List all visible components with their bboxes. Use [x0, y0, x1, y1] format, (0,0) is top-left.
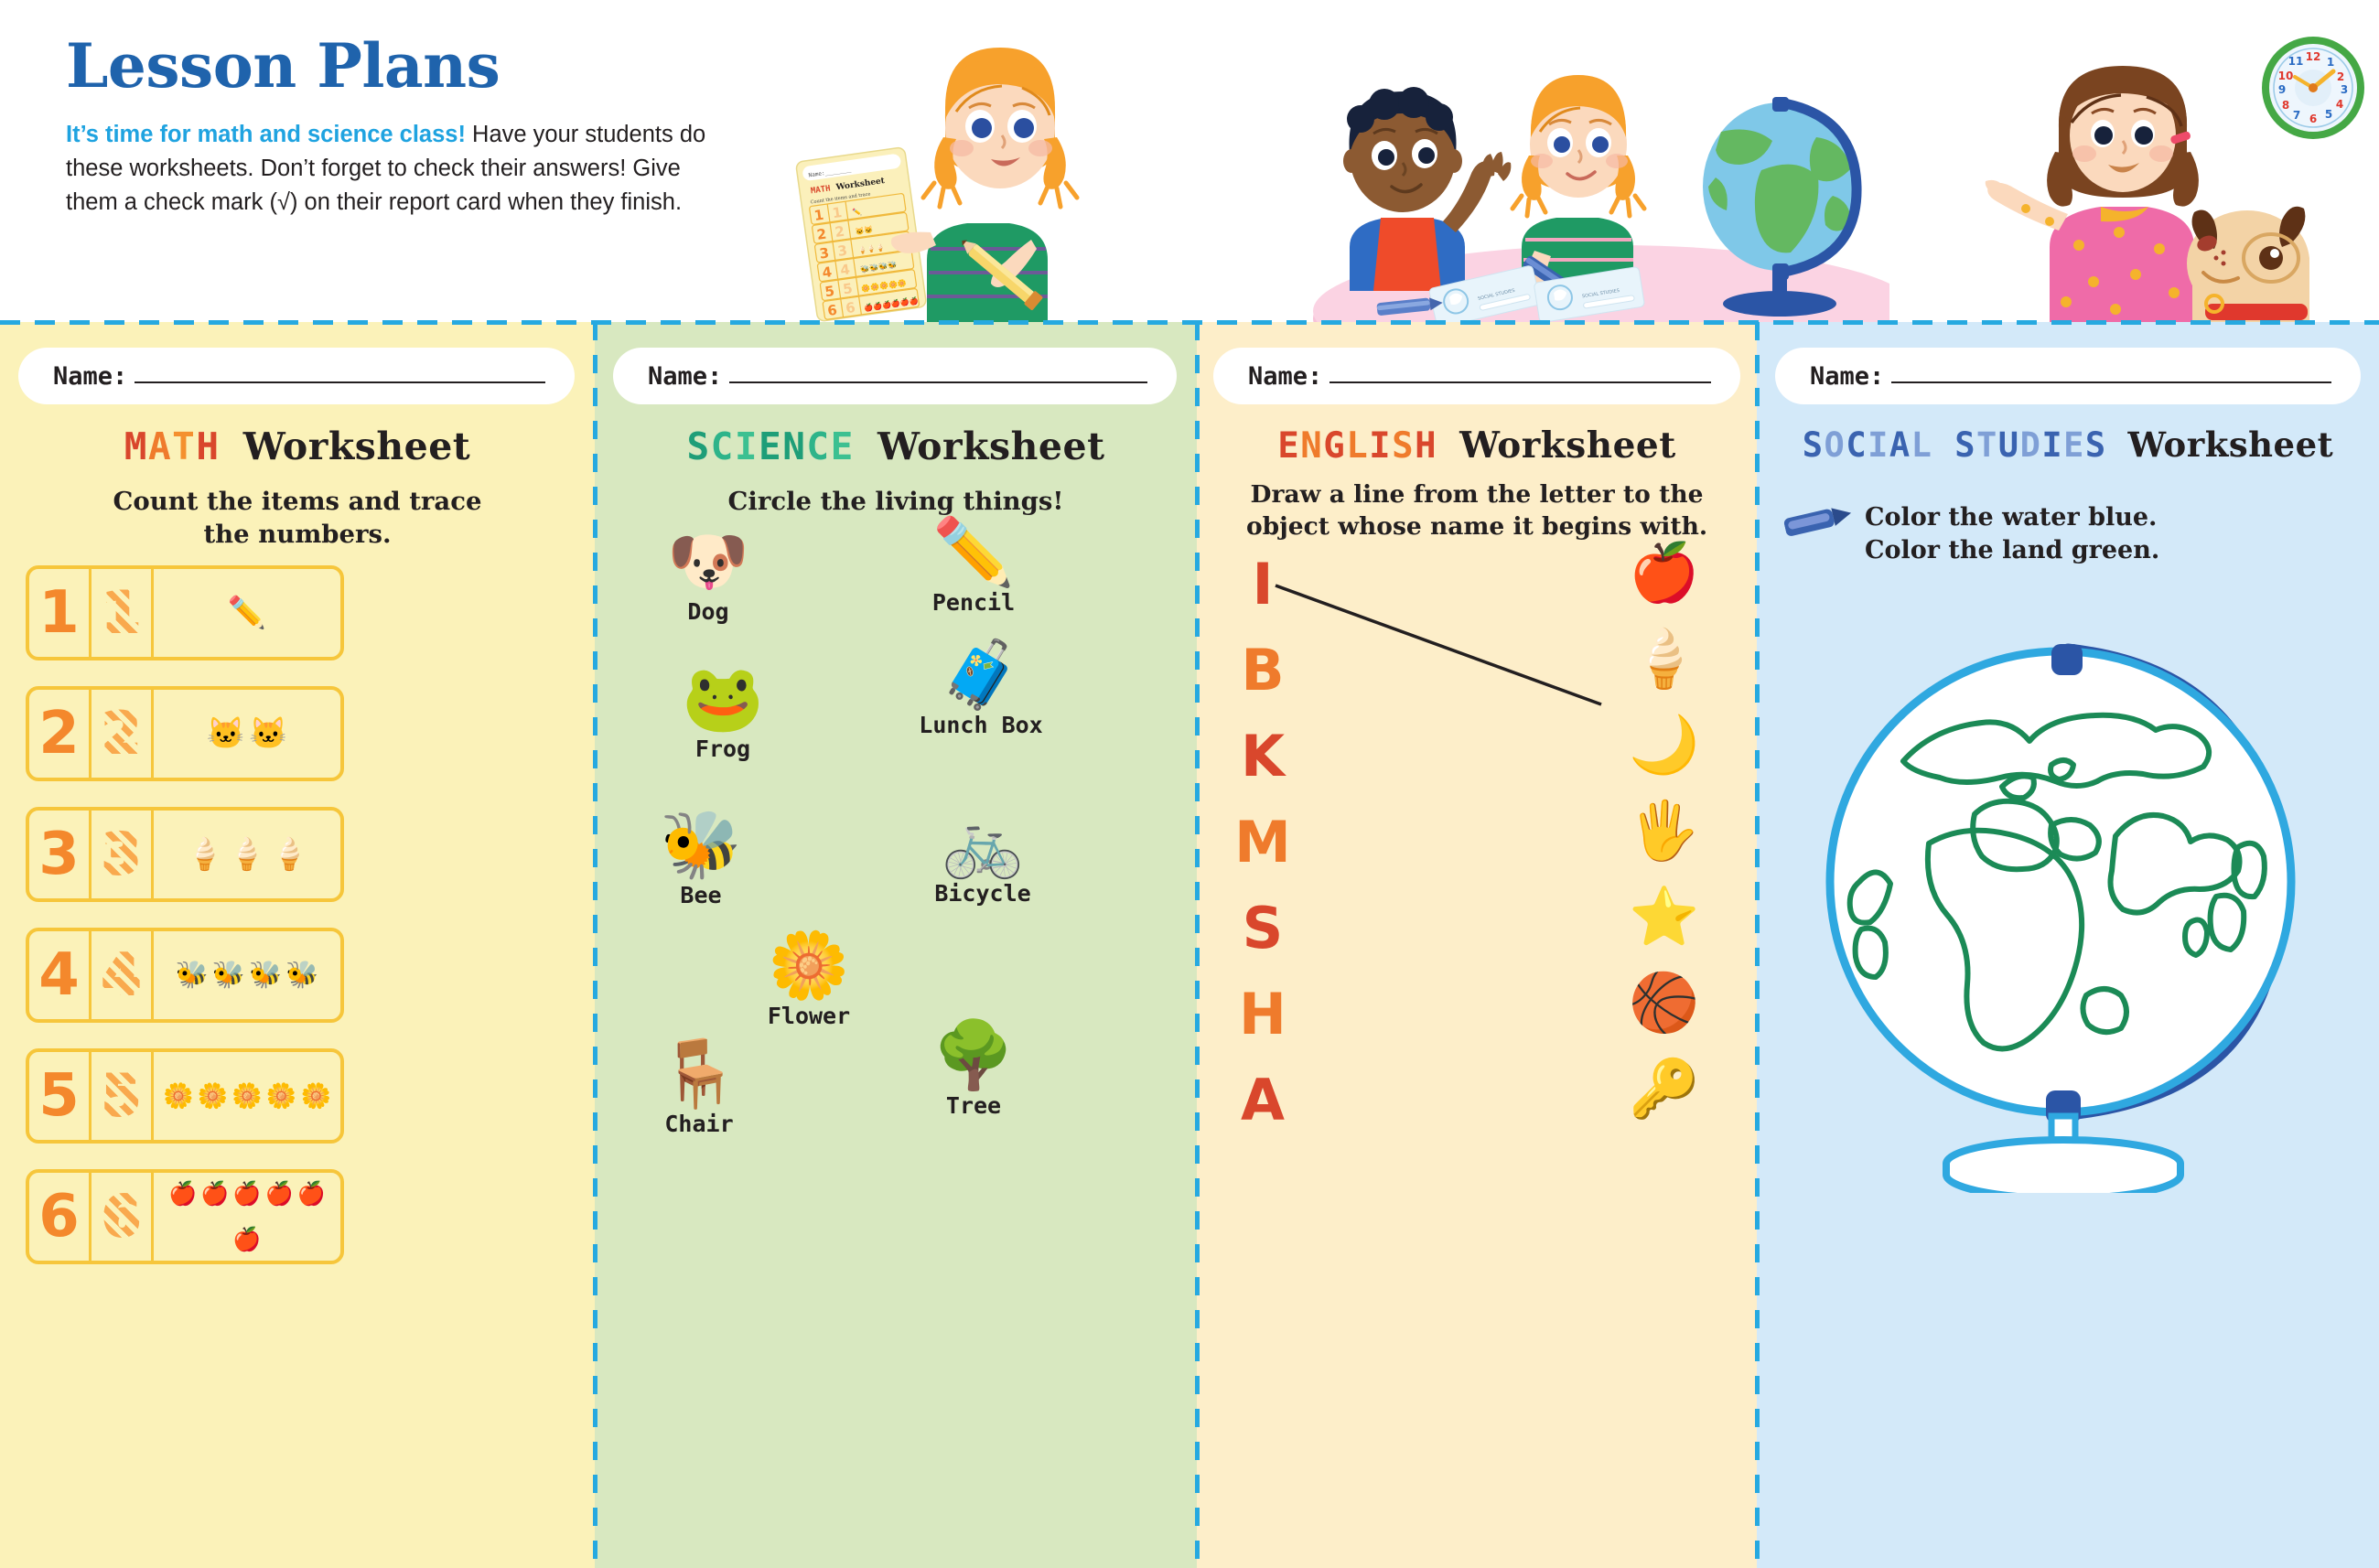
math-items: 🐝🐝🐝🐝 [154, 931, 340, 1019]
math-trace-number[interactable]: 2 [91, 690, 154, 778]
lunchbox-icon: 🧳 [889, 642, 1072, 708]
math-worksheet-word: Worksheet [243, 424, 471, 468]
blue-crayon-icon [1782, 501, 1854, 540]
science-worksheet-word: Worksheet [877, 424, 1105, 468]
english-letter-A[interactable]: A [1235, 1058, 1290, 1144]
science-instruction: Circle the living things! [595, 485, 1197, 518]
english-letter-S[interactable]: S [1235, 886, 1290, 972]
header-text-block: Lesson Plans It’s time for math and scie… [66, 35, 706, 220]
social-studies-worksheet-column: Name: SOCIAL STUDIES Worksheet Color the… [1757, 322, 2379, 1568]
svg-text:9: 9 [2278, 83, 2286, 96]
name-write-line[interactable] [135, 381, 545, 383]
svg-text:3: 3 [2341, 83, 2348, 96]
basketball-icon[interactable]: 🏀 [1614, 961, 1715, 1047]
wall-clock-illustration: 12 1 2 3 4 5 6 7 8 9 10 11 [2262, 37, 2364, 139]
banana-icon[interactable]: 🌙 [1614, 703, 1715, 789]
math-instruction: Count the items and trace the numbers. [0, 485, 595, 552]
svg-text:4: 4 [2336, 98, 2343, 111]
name-label: Name: [648, 362, 722, 391]
science-item-bicycle[interactable]: 🚲 Bicycle [891, 811, 1074, 907]
math-trace-number[interactable]: 5 [91, 1052, 154, 1140]
drawn-answer-line [1276, 585, 1601, 704]
english-letter-column: I B K M S H A [1235, 542, 1290, 1144]
math-number: 3 [29, 811, 91, 898]
header-divider [0, 320, 2379, 325]
science-item-frog[interactable]: 🐸 Frog [631, 666, 814, 762]
math-items: 🐱🐱 [154, 690, 340, 778]
intro-lead: It’s time for math and science class! [66, 122, 466, 147]
svg-text:6: 6 [2309, 113, 2317, 125]
science-item-tree[interactable]: 🌳 Tree [882, 1023, 1065, 1119]
svg-text:11: 11 [2288, 55, 2304, 68]
name-label: Name: [53, 362, 127, 391]
english-letter-M[interactable]: M [1235, 800, 1290, 886]
svg-text:7: 7 [2293, 109, 2300, 122]
math-number: 2 [29, 690, 91, 778]
globe-coloring-illustration[interactable] [1793, 607, 2342, 1193]
english-worksheet-title: ENGLISH Worksheet [1197, 424, 1757, 467]
column-divider-3 [1755, 322, 1760, 1568]
math-row[interactable]: 4 4 🐝🐝🐝🐝 [26, 928, 344, 1023]
girl-with-worksheet-illustration: Name:________ MATH Worksheet Count the i… [773, 20, 1167, 322]
name-field-science[interactable]: Name: [613, 348, 1177, 404]
math-trace-number[interactable]: 3 [91, 811, 154, 898]
science-worksheet-title: SCIENCE Worksheet [595, 424, 1197, 468]
science-item-lunchbox[interactable]: 🧳 Lunch Box [889, 642, 1072, 738]
science-subject-label: SCIENCE [686, 424, 854, 468]
science-item-flower[interactable]: 🌼 Flower [717, 933, 900, 1029]
math-items: ✏️ [154, 569, 340, 657]
svg-text:8: 8 [2282, 99, 2289, 112]
english-letter-K[interactable]: K [1235, 714, 1290, 800]
math-trace-number[interactable]: 1 [91, 569, 154, 657]
math-row[interactable]: 6 6 🍎🍎🍎🍎🍎🍎 [26, 1169, 344, 1264]
science-worksheet-column: Name: SCIENCE Worksheet Circle the livin… [595, 322, 1197, 1568]
english-object-column: 🍎 🍦 🌙 🖐️ ⭐ 🏀 🔑 [1614, 531, 1715, 1133]
math-worksheet-column: Name: MATH Worksheet Count the items and… [0, 322, 595, 1568]
math-worksheet-title: MATH Worksheet [0, 424, 595, 468]
english-letter-I[interactable]: I [1235, 542, 1290, 628]
english-letter-B[interactable]: B [1235, 628, 1290, 714]
math-row[interactable]: 1 1 ✏️ [26, 565, 344, 660]
english-worksheet-column: Name: ENGLISH Worksheet Draw a line from… [1197, 322, 1757, 1568]
svg-text:10: 10 [2278, 70, 2294, 82]
page-title: Lesson Plans [66, 35, 706, 98]
math-row[interactable]: 3 3 🍦🍦🍦 [26, 807, 344, 902]
math-trace-number[interactable]: 6 [91, 1173, 154, 1261]
science-item-bee[interactable]: 🐝 Bee [609, 812, 792, 908]
teacher-and-dog-illustration: 12 1 2 3 4 5 6 7 8 9 10 11 [1940, 18, 2379, 322]
social-worksheet-word: Worksheet [2127, 424, 2333, 465]
math-number: 6 [29, 1173, 91, 1261]
name-write-line[interactable] [1891, 381, 2331, 383]
name-label: Name: [1810, 362, 1884, 391]
math-number: 5 [29, 1052, 91, 1140]
math-trace-number[interactable]: 4 [91, 931, 154, 1019]
tree-icon: 🌳 [882, 1023, 1065, 1089]
ice-cream-icon[interactable]: 🍦 [1614, 617, 1715, 703]
science-item-chair[interactable]: 🪑 Chair [608, 1041, 791, 1137]
math-items: 🌼🌼🌼🌼🌼 [154, 1052, 340, 1140]
key-icon[interactable]: 🔑 [1614, 1047, 1715, 1133]
flower-icon: 🌼 [717, 933, 900, 999]
classroom-scene-illustration: SOCIAL STUDIES SOCIAL STUDIES [1286, 16, 1889, 322]
frog-icon: 🐸 [631, 666, 814, 732]
intro-paragraph: It’s time for math and science class! Ha… [66, 118, 706, 220]
name-field-social[interactable]: Name: [1775, 348, 2361, 404]
name-field-english[interactable]: Name: [1213, 348, 1740, 404]
math-number: 1 [29, 569, 91, 657]
svg-text:2: 2 [2337, 70, 2344, 83]
pencil-icon: ✏️ [882, 520, 1065, 585]
name-label: Name: [1248, 362, 1322, 391]
name-write-line[interactable] [729, 381, 1147, 383]
svg-text:1: 1 [2327, 56, 2334, 69]
bicycle-icon: 🚲 [891, 811, 1074, 876]
column-divider-2 [1195, 322, 1200, 1568]
science-item-dog[interactable]: 🐶 Dog [617, 529, 800, 625]
math-items: 🍦🍦🍦 [154, 811, 340, 898]
name-write-line[interactable] [1329, 381, 1711, 383]
svg-text:12: 12 [2306, 50, 2321, 63]
star-icon[interactable]: ⭐ [1614, 875, 1715, 961]
column-divider-1 [593, 322, 597, 1568]
math-items: 🍎🍎🍎🍎🍎🍎 [154, 1173, 340, 1261]
science-item-grid: 🐶 Dog ✏️ Pencil 🐸 Frog 🧳 Lunch Box 🐝 Bee… [617, 529, 1175, 1517]
english-worksheet-word: Worksheet [1459, 424, 1676, 467]
math-number: 4 [29, 931, 91, 1019]
science-item-pencil[interactable]: ✏️ Pencil [882, 520, 1065, 616]
math-subject-label: MATH [124, 424, 221, 468]
english-letter-H[interactable]: H [1235, 972, 1290, 1058]
header: Lesson Plans It’s time for math and scie… [0, 0, 2379, 322]
dog-icon: 🐶 [617, 529, 800, 595]
svg-text:✏️: ✏️ [852, 207, 862, 217]
hand-icon[interactable]: 🖐️ [1614, 789, 1715, 875]
math-row[interactable]: 5 5 🌼🌼🌼🌼🌼 [26, 1048, 344, 1144]
dog-illustration [2187, 207, 2309, 322]
apple-icon[interactable]: 🍎 [1614, 531, 1715, 617]
english-subject-label: ENGLISH [1277, 425, 1437, 467]
social-worksheet-title: SOCIAL STUDIES Worksheet [1757, 424, 2379, 465]
chair-icon: 🪑 [608, 1041, 791, 1107]
social-instruction: Color the water blue. Color the land gre… [1865, 501, 2359, 566]
math-row[interactable]: 2 2 🐱🐱 [26, 686, 344, 781]
name-field-math[interactable]: Name: [18, 348, 575, 404]
social-subject-label: SOCIAL STUDIES [1803, 425, 2107, 465]
bee-icon: 🐝 [609, 812, 792, 878]
svg-text:5: 5 [2325, 108, 2332, 121]
